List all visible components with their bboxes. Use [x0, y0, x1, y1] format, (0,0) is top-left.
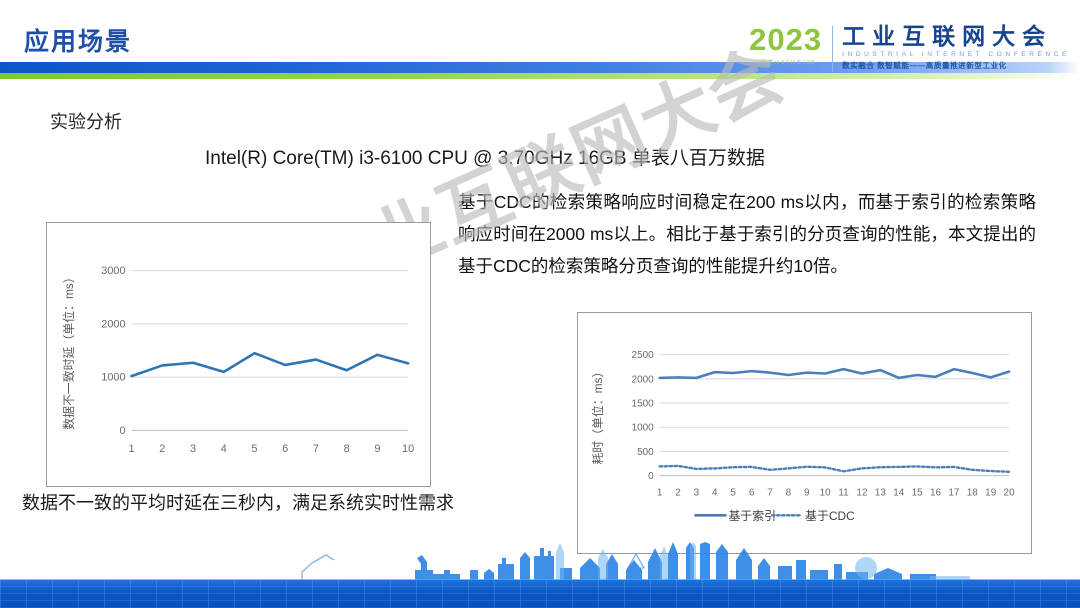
svg-text:1500: 1500: [632, 399, 655, 410]
svg-text:3: 3: [190, 443, 196, 455]
svg-text:8: 8: [344, 443, 350, 455]
svg-text:16: 16: [930, 487, 942, 498]
svg-text:1: 1: [657, 487, 663, 498]
svg-text:8: 8: [786, 487, 792, 498]
svg-text:4: 4: [221, 443, 227, 455]
svg-text:基于索引: 基于索引: [728, 509, 776, 523]
svg-text:7: 7: [767, 487, 773, 498]
svg-text:5: 5: [251, 443, 257, 455]
svg-text:2: 2: [159, 443, 165, 455]
hardware-spec-line: Intel(R) Core(TM) i3-6100 CPU @ 3.70GHz …: [205, 143, 765, 170]
section-label: 实验分析: [50, 108, 122, 134]
conference-logo: 2023 中国·苏州 8月11日-13日 工业互联网大会 INDUSTRIAL …: [749, 24, 1070, 78]
footer-grid-overlay: [0, 580, 1080, 608]
skyline-graphic: [0, 542, 1080, 582]
svg-text:数据不一致时延（单位：ms）: 数据不一致时延（单位：ms）: [62, 271, 76, 430]
logo-year-text: 2023: [749, 24, 822, 55]
svg-text:0: 0: [120, 425, 126, 437]
svg-text:1: 1: [129, 443, 135, 455]
svg-text:0: 0: [648, 471, 654, 482]
svg-text:3000: 3000: [101, 265, 125, 277]
svg-text:2: 2: [675, 487, 681, 498]
logo-year-block: 2023 中国·苏州 8月11日-13日: [749, 24, 832, 66]
svg-text:10: 10: [402, 443, 414, 455]
svg-text:9: 9: [374, 443, 380, 455]
svg-text:12: 12: [856, 487, 868, 498]
svg-text:5: 5: [730, 487, 736, 498]
query-time-chart-canvas: 05001000150020002500耗时（单位：ms）12345678910…: [578, 313, 1031, 553]
svg-text:7: 7: [313, 443, 319, 455]
svg-text:3: 3: [694, 487, 700, 498]
svg-text:基于CDC: 基于CDC: [805, 509, 855, 523]
latency-chart: 0100020003000数据不一致时延（单位：ms）12345678910: [46, 222, 431, 487]
slide: 应用场景 2023 中国·苏州 8月11日-13日 工业互联网大会 INDUST…: [0, 0, 1080, 608]
svg-text:14: 14: [893, 487, 905, 498]
svg-text:6: 6: [282, 443, 288, 455]
svg-text:10: 10: [820, 487, 832, 498]
logo-separator: [832, 26, 833, 72]
query-time-chart: 05001000150020002500耗时（单位：ms）12345678910…: [577, 312, 1032, 554]
header-divider-white: [0, 79, 1080, 82]
svg-text:20: 20: [1004, 487, 1016, 498]
chart-caption: 数据不一致的平均时延在三秒内，满足系统实时性需求: [22, 489, 454, 515]
svg-text:9: 9: [804, 487, 810, 498]
logo-location-text: 中国·苏州 8月11日-13日: [756, 59, 815, 66]
page-title: 应用场景: [24, 22, 132, 58]
analysis-paragraph: 基于CDC的检索策略响应时间稳定在200 ms以内，而基于索引的检索策略响应时间…: [458, 186, 1036, 282]
svg-text:2500: 2500: [632, 350, 655, 361]
latency-chart-canvas: 0100020003000数据不一致时延（单位：ms）12345678910: [47, 223, 430, 486]
svg-text:6: 6: [749, 487, 755, 498]
svg-text:1000: 1000: [101, 372, 125, 384]
svg-text:4: 4: [712, 487, 718, 498]
logo-slogan: 数实融合 数智赋能——高质量推进新型工业化: [842, 60, 1070, 71]
logo-name-en: INDUSTRIAL INTERNET CONFERENCE: [842, 51, 1070, 58]
footer-band: [0, 548, 1080, 608]
svg-text:2000: 2000: [101, 318, 125, 330]
svg-text:2000: 2000: [632, 374, 655, 385]
svg-text:500: 500: [637, 447, 654, 458]
svg-text:1000: 1000: [632, 423, 655, 434]
svg-text:耗时（单位：ms）: 耗时（单位：ms）: [591, 366, 605, 465]
svg-text:19: 19: [985, 487, 997, 498]
svg-text:11: 11: [838, 487, 849, 498]
logo-name-cn: 工业互联网大会: [842, 24, 1070, 48]
logo-title-block: 工业互联网大会 INDUSTRIAL INTERNET CONFERENCE 数…: [842, 24, 1070, 71]
svg-text:18: 18: [967, 487, 979, 498]
svg-text:17: 17: [948, 487, 960, 498]
svg-text:13: 13: [875, 487, 887, 498]
svg-text:15: 15: [912, 487, 924, 498]
